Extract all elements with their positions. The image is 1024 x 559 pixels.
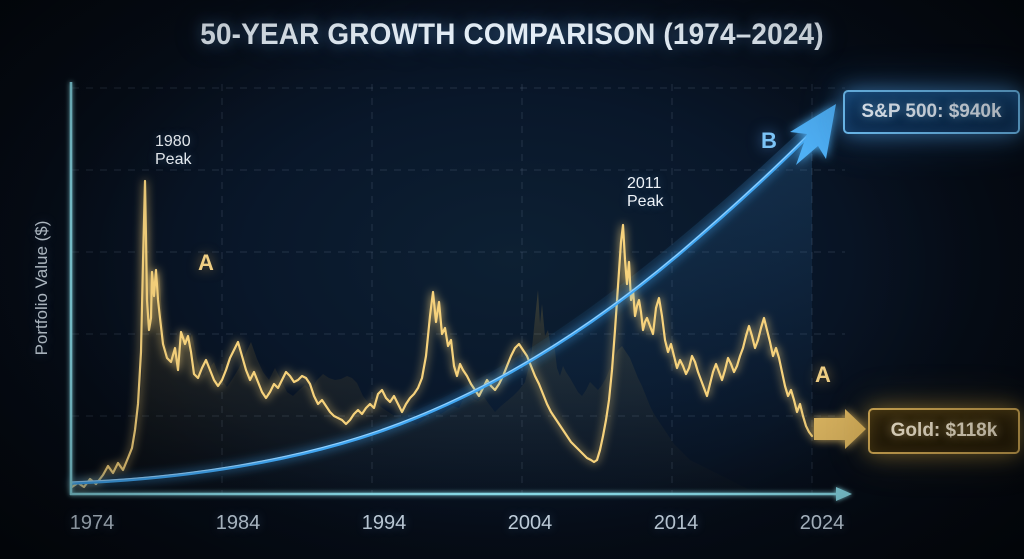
x-tick-2004: 2004 <box>508 512 553 535</box>
chart-canvas: 50-YEAR GROWTH COMPARISON (1974–2024) Po… <box>0 0 1024 559</box>
annotation-2011-peak: 2011 Peak <box>627 175 663 211</box>
x-tick-1994: 1994 <box>362 512 407 535</box>
annotation-1980-peak-word: Peak <box>155 151 191 169</box>
series-marker-b: B <box>761 128 777 154</box>
x-tick-1984: 1984 <box>216 512 261 535</box>
gold-callout-arrow <box>814 409 866 449</box>
x-tick-2024: 2024 <box>800 512 845 535</box>
annotation-2011-peak-year: 2011 <box>627 175 663 193</box>
gold-callout[interactable]: Gold: $118k <box>868 408 1020 454</box>
annotation-2011-peak-word: Peak <box>627 193 663 211</box>
sp500-callout[interactable]: S&P 500: $940k <box>843 90 1020 134</box>
series-marker-a-right: A <box>815 362 831 388</box>
x-tick-1974: 1974 <box>70 512 115 535</box>
series-marker-a-left: A <box>198 250 214 276</box>
chart-svg <box>0 0 1024 559</box>
annotation-1980-peak-year: 1980 <box>155 133 191 151</box>
x-tick-2014: 2014 <box>654 512 699 535</box>
annotation-1980-peak: 1980 Peak <box>155 133 191 169</box>
